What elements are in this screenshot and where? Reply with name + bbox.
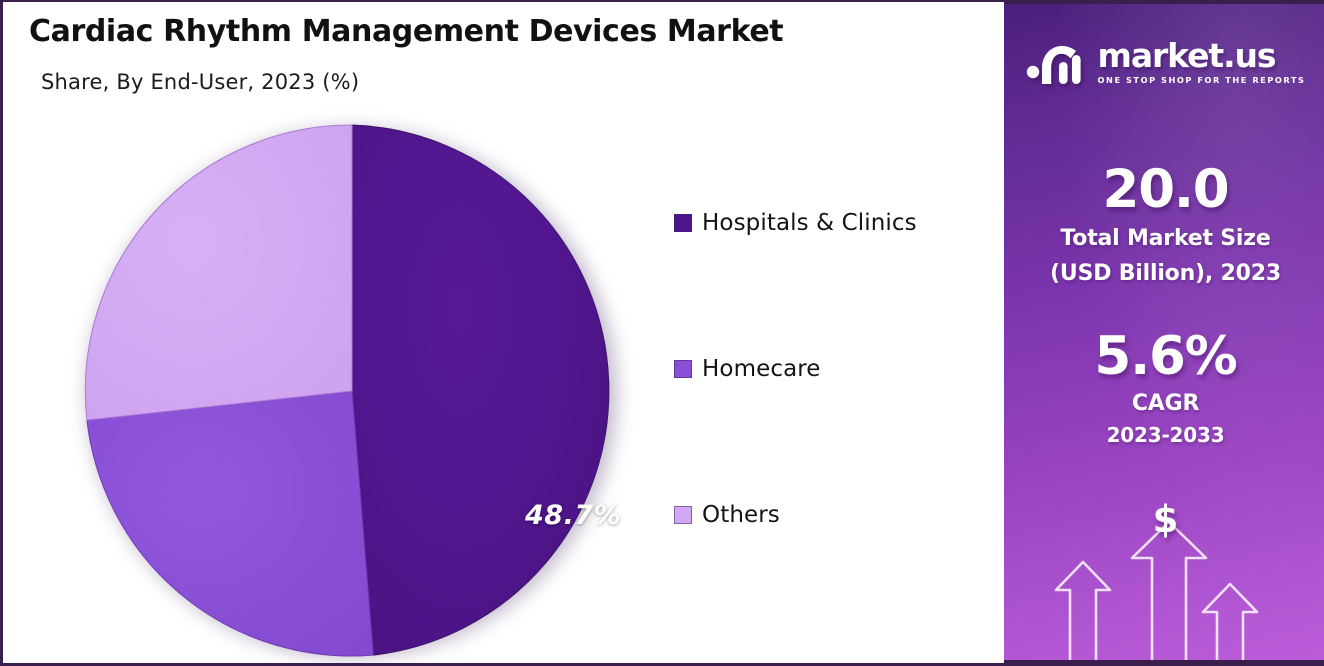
legend-item-label: Hospitals & Clinics (702, 210, 917, 236)
chart-subtitle: Share, By End-User, 2023 (%) (41, 70, 359, 94)
legend-item-others[interactable]: Others (674, 497, 994, 533)
brand-wordmark: market.us ONE STOP SHOP FOR THE REPORTS (1098, 39, 1306, 85)
pie-slice-value-label: 48.7% (525, 500, 621, 531)
pie-slice-homecare[interactable] (87, 391, 373, 656)
market-infographic: Cardiac Rhythm Management Devices Market… (0, 0, 1324, 666)
brand-logo[interactable]: market.us ONE STOP SHOP FOR THE REPORTS (1004, 38, 1324, 86)
stat-cagr: 5.6% CAGR 2023-2033 (1004, 329, 1324, 448)
page-title: Cardiac Rhythm Management Devices Market (29, 14, 783, 49)
market-us-logo-icon (1026, 38, 1088, 86)
dollar-icon: $ (1004, 498, 1324, 541)
stat-label-line1: CAGR (1004, 391, 1324, 417)
legend-color-swatch (674, 506, 692, 524)
stat-label-line2: (USD Billion), 2023 (1004, 261, 1324, 287)
growth-arrows-icon (1004, 520, 1324, 660)
stat-label-line2: 2023-2033 (1004, 424, 1324, 448)
chart-legend: Hospitals & Clinics Homecare Others (674, 205, 994, 533)
legend-item-homecare[interactable]: Homecare (674, 351, 994, 387)
legend-item-label: Others (702, 502, 780, 528)
brand-name: market.us (1098, 39, 1276, 72)
pie-slice-others[interactable] (85, 125, 352, 420)
pie-chart-svg (81, 120, 623, 662)
legend-color-swatch (674, 360, 692, 378)
legend-color-swatch (674, 214, 692, 232)
pie-slice-hospitals-clinics[interactable] (352, 125, 609, 655)
brand-tagline: ONE STOP SHOP FOR THE REPORTS (1098, 75, 1306, 85)
legend-item-label: Homecare (702, 356, 821, 382)
brand-stats-panel: market.us ONE STOP SHOP FOR THE REPORTS … (1004, 2, 1324, 663)
stat-value: 5.6% (1004, 329, 1324, 384)
legend-item-hospitals-clinics[interactable]: Hospitals & Clinics (674, 205, 994, 241)
pie-chart: 48.7% (81, 120, 623, 662)
stat-value: 20.0 (1004, 162, 1324, 217)
chart-panel: Cardiac Rhythm Management Devices Market… (3, 2, 1004, 663)
stat-label-line1: Total Market Size (1004, 226, 1324, 252)
stat-market-size: 20.0 Total Market Size (USD Billion), 20… (1004, 162, 1324, 287)
